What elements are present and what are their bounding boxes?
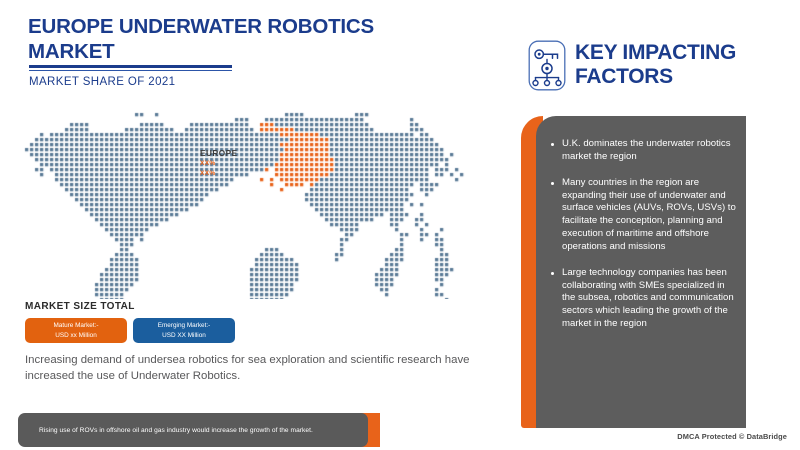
key-network-icon xyxy=(526,39,568,92)
map-share-value-1: XX% xyxy=(200,160,216,167)
bottom-banner-text: Rising use of ROVs in offshore oil and g… xyxy=(18,427,313,434)
bottom-banner: Rising use of ROVs in offshore oil and g… xyxy=(18,413,368,447)
legend-mature-line2: USD xx Million xyxy=(55,331,97,340)
legend-emerging-line1: Emerging Market:- xyxy=(158,321,211,330)
title-divider-thick xyxy=(29,65,232,68)
key-factors-list: U.K. dominates the underwater robotics m… xyxy=(550,138,736,331)
market-description: Increasing demand of undersea robotics f… xyxy=(25,352,485,384)
legend-mature-market: Mature Market:- USD xx Million xyxy=(25,318,127,343)
world-dot-map xyxy=(14,104,494,299)
legend-emerging-market: Emerging Market:- USD XX Million xyxy=(133,318,235,343)
page-title: EUROPE UNDERWATER ROBOTICS MARKET xyxy=(28,14,458,65)
key-factors-panel: U.K. dominates the underwater robotics m… xyxy=(536,116,746,428)
map-share-value-2: XX% xyxy=(200,170,216,177)
legend-emerging-line2: USD XX Million xyxy=(162,331,206,340)
key-factors-title: KEY IMPACTING FACTORS xyxy=(575,41,790,88)
map-canvas xyxy=(14,104,494,299)
key-factor-item: Large technology companies has been coll… xyxy=(550,267,736,331)
legend-mature-line1: Mature Market:- xyxy=(53,321,98,330)
title-divider-thin xyxy=(29,70,232,71)
key-factor-item: U.K. dominates the underwater robotics m… xyxy=(550,138,736,164)
page-subtitle: MARKET SHARE OF 2021 xyxy=(29,76,175,88)
infographic-slide: EUROPE UNDERWATER ROBOTICS MARKET MARKET… xyxy=(0,0,800,450)
key-factor-item: Many countries in the region are expandi… xyxy=(550,177,736,254)
footer-copyright: DMCA Protected © DataBridge xyxy=(677,432,787,441)
market-size-heading: MARKET SIZE TOTAL xyxy=(25,301,135,312)
map-region-label: EUROPE xyxy=(200,149,238,158)
